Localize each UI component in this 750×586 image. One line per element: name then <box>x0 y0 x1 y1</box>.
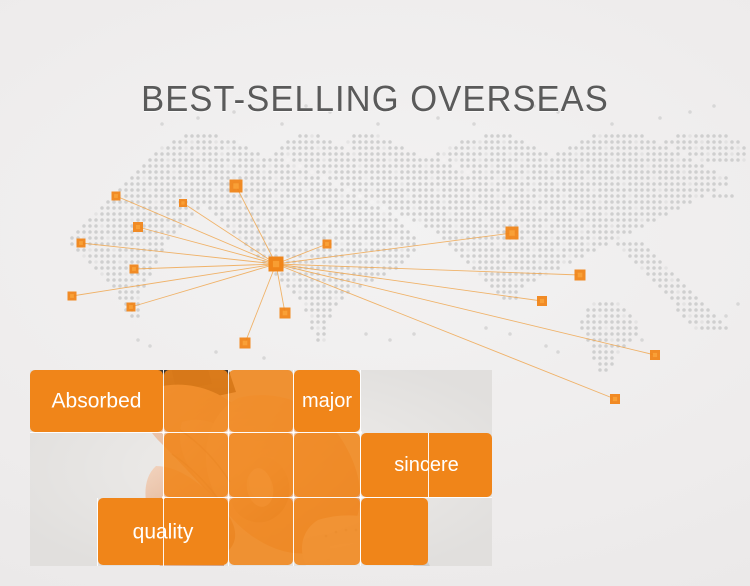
grid-node-f <box>292 496 295 499</box>
grid-line-v3 <box>293 370 294 566</box>
tile-row3-col4[interactable] <box>229 498 293 565</box>
grid-node-g <box>359 496 362 499</box>
grid-node-a <box>162 431 165 434</box>
tile-row1-col4[interactable] <box>229 370 293 432</box>
tile-row2-col4[interactable] <box>229 433 293 497</box>
poster-canvas: BEST-SELLING OVERSEAS <box>0 0 750 586</box>
tile-sincere-label: sincere <box>361 455 492 475</box>
tile-major[interactable]: major <box>294 370 360 432</box>
grid-line-v1 <box>163 370 164 566</box>
tile-major-label: major <box>294 391 360 411</box>
tile-sincere[interactable]: sincere <box>361 433 492 497</box>
grid-node-c <box>292 431 295 434</box>
page-title: BEST-SELLING OVERSEAS <box>15 78 735 120</box>
tile-row2-col3[interactable] <box>164 433 228 497</box>
grid-node-e <box>227 496 230 499</box>
map-route-layer <box>72 186 655 399</box>
tile-row3-col5[interactable] <box>294 498 360 565</box>
tile-row1-col3[interactable] <box>164 370 228 432</box>
tile-row3-col6[interactable] <box>361 498 428 565</box>
grid-line-v5 <box>428 433 429 497</box>
grid-node-d <box>359 431 362 434</box>
tile-mosaic: Absorbed major sincere quality <box>30 370 492 566</box>
grid-line-h2 <box>164 497 492 498</box>
tile-absorbed-label: Absorbed <box>30 391 163 412</box>
grid-line-h1 <box>30 432 360 433</box>
grid-node-b <box>227 431 230 434</box>
grid-line-v0 <box>97 498 98 566</box>
map-dot-layer <box>70 104 746 372</box>
grid-line-v2 <box>228 370 229 566</box>
tile-row2-col5[interactable] <box>294 433 360 497</box>
grid-line-v4 <box>360 370 361 566</box>
grid-node-h <box>162 496 165 499</box>
tile-absorbed[interactable]: Absorbed <box>30 370 163 432</box>
